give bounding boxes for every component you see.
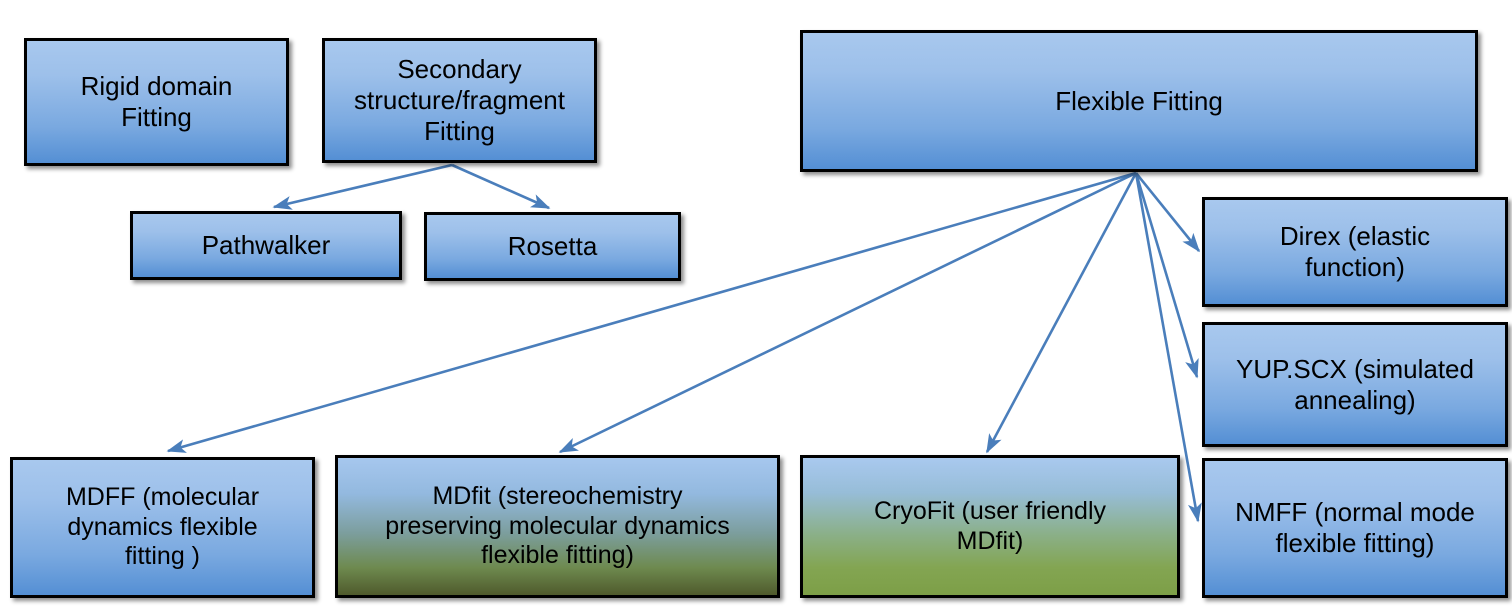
- edge-secondary-to-pathwalker: [274, 165, 452, 207]
- node-cryofit-line1: CryoFit (user friendly: [874, 497, 1106, 527]
- node-cryofit[interactable]: CryoFit (user friendly MDfit): [800, 455, 1180, 598]
- node-mdfit-line1: MDfit (stereochemistry: [385, 482, 730, 512]
- node-yupscx[interactable]: YUP.SCX (simulated annealing): [1202, 322, 1508, 447]
- edge-flexible-to-cryofit: [987, 173, 1136, 452]
- node-rosetta[interactable]: Rosetta: [424, 212, 681, 281]
- node-nmff-line1: NMFF (normal mode: [1235, 497, 1475, 528]
- node-secondary-line3: Fitting: [354, 116, 565, 147]
- node-pathwalker[interactable]: Pathwalker: [130, 211, 402, 280]
- node-rigid-domain-fitting[interactable]: Rigid domain Fitting: [24, 38, 289, 166]
- node-cryofit-line2: MDfit): [874, 527, 1106, 557]
- node-rigid-domain-fitting-line1: Rigid domain: [81, 71, 233, 102]
- edge-flexible-to-direx: [1136, 173, 1199, 251]
- node-nmff[interactable]: NMFF (normal mode flexible fitting): [1202, 458, 1508, 598]
- node-nmff-line2: flexible fitting): [1235, 528, 1475, 559]
- node-mdff-line2: dynamics flexible: [66, 513, 259, 543]
- node-rigid-domain-fitting-line2: Fitting: [81, 102, 233, 133]
- node-mdff-line3: fitting ): [66, 542, 259, 572]
- edge-flexible-to-yupscx: [1136, 173, 1197, 377]
- node-flexible-fitting[interactable]: Flexible Fitting: [800, 30, 1478, 172]
- node-mdfit[interactable]: MDfit (stereochemistry preserving molecu…: [335, 455, 780, 598]
- node-direx[interactable]: Direx (elastic function): [1202, 197, 1508, 307]
- node-pathwalker-label: Pathwalker: [202, 230, 331, 261]
- node-rosetta-label: Rosetta: [508, 231, 598, 262]
- node-direx-line1: Direx (elastic: [1280, 221, 1430, 252]
- diagram-canvas: Rigid domain Fitting Secondary structure…: [0, 0, 1512, 610]
- node-secondary-line1: Secondary: [354, 54, 565, 85]
- node-mdfit-line3: flexible fitting): [385, 541, 730, 571]
- node-mdfit-line2: preserving molecular dynamics: [385, 512, 730, 542]
- node-yupscx-line2: annealing): [1236, 385, 1474, 416]
- node-yupscx-line1: YUP.SCX (simulated: [1236, 354, 1474, 385]
- node-mdff[interactable]: MDFF (molecular dynamics flexible fittin…: [10, 457, 315, 598]
- edge-secondary-to-rosetta: [452, 165, 549, 208]
- node-secondary-structure-fragment-fitting[interactable]: Secondary structure/fragment Fitting: [322, 38, 597, 163]
- node-mdff-line1: MDFF (molecular: [66, 483, 259, 513]
- node-flexible-fitting-label: Flexible Fitting: [1055, 86, 1223, 117]
- node-direx-line2: function): [1280, 252, 1430, 283]
- node-secondary-line2: structure/fragment: [354, 85, 565, 116]
